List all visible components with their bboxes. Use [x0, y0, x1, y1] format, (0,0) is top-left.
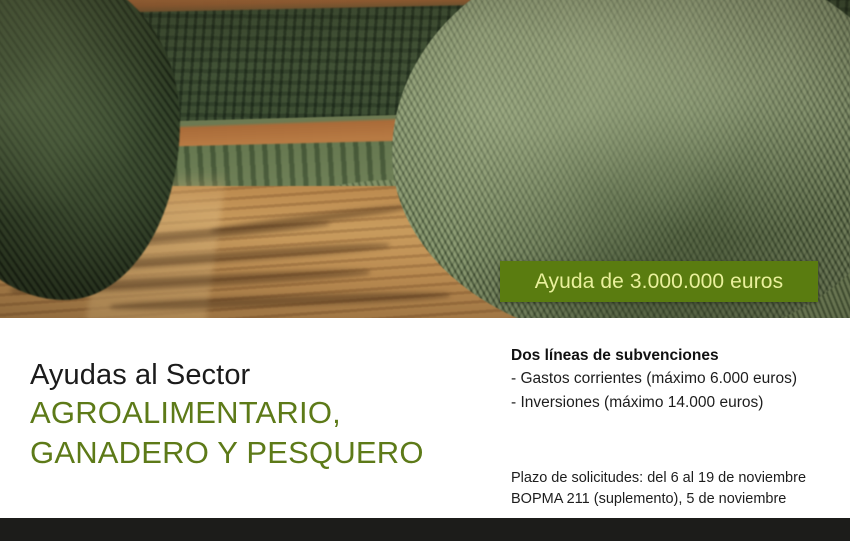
application-meta-block: Plazo de solicitudes: del 6 al 19 de nov…: [511, 468, 841, 509]
subsidy-bullet-investments: - Inversiones (máximo 14.000 euros): [511, 391, 841, 415]
subsidy-details-heading: Dos líneas de subvenciones: [511, 345, 841, 367]
headline-line-1: Ayudas al Sector: [30, 358, 490, 393]
aid-amount-text: Ayuda de 3.000.000 euros: [535, 270, 783, 294]
publication-reference: BOPMA 211 (suplemento), 5 de noviembre: [511, 489, 841, 510]
footer-bar: [0, 518, 850, 541]
subsidy-bullet-current-expenses: - Gastos corrientes (máximo 6.000 euros): [511, 367, 841, 391]
aid-amount-badge: Ayuda de 3.000.000 euros: [500, 261, 818, 302]
headline-line-3: GANADERO Y PESQUERO: [30, 433, 490, 473]
headline-line-2: AGROALIMENTARIO,: [30, 393, 490, 433]
poster-root: Ayuda de 3.000.000 euros Ayudas al Secto…: [0, 0, 850, 541]
subsidy-details-block: Dos líneas de subvenciones - Gastos corr…: [511, 345, 841, 415]
content-band: Ayudas al Sector AGROALIMENTARIO, GANADE…: [0, 318, 850, 518]
application-deadline: Plazo de solicitudes: del 6 al 19 de nov…: [511, 468, 841, 489]
headline-block: Ayudas al Sector AGROALIMENTARIO, GANADE…: [30, 358, 490, 473]
